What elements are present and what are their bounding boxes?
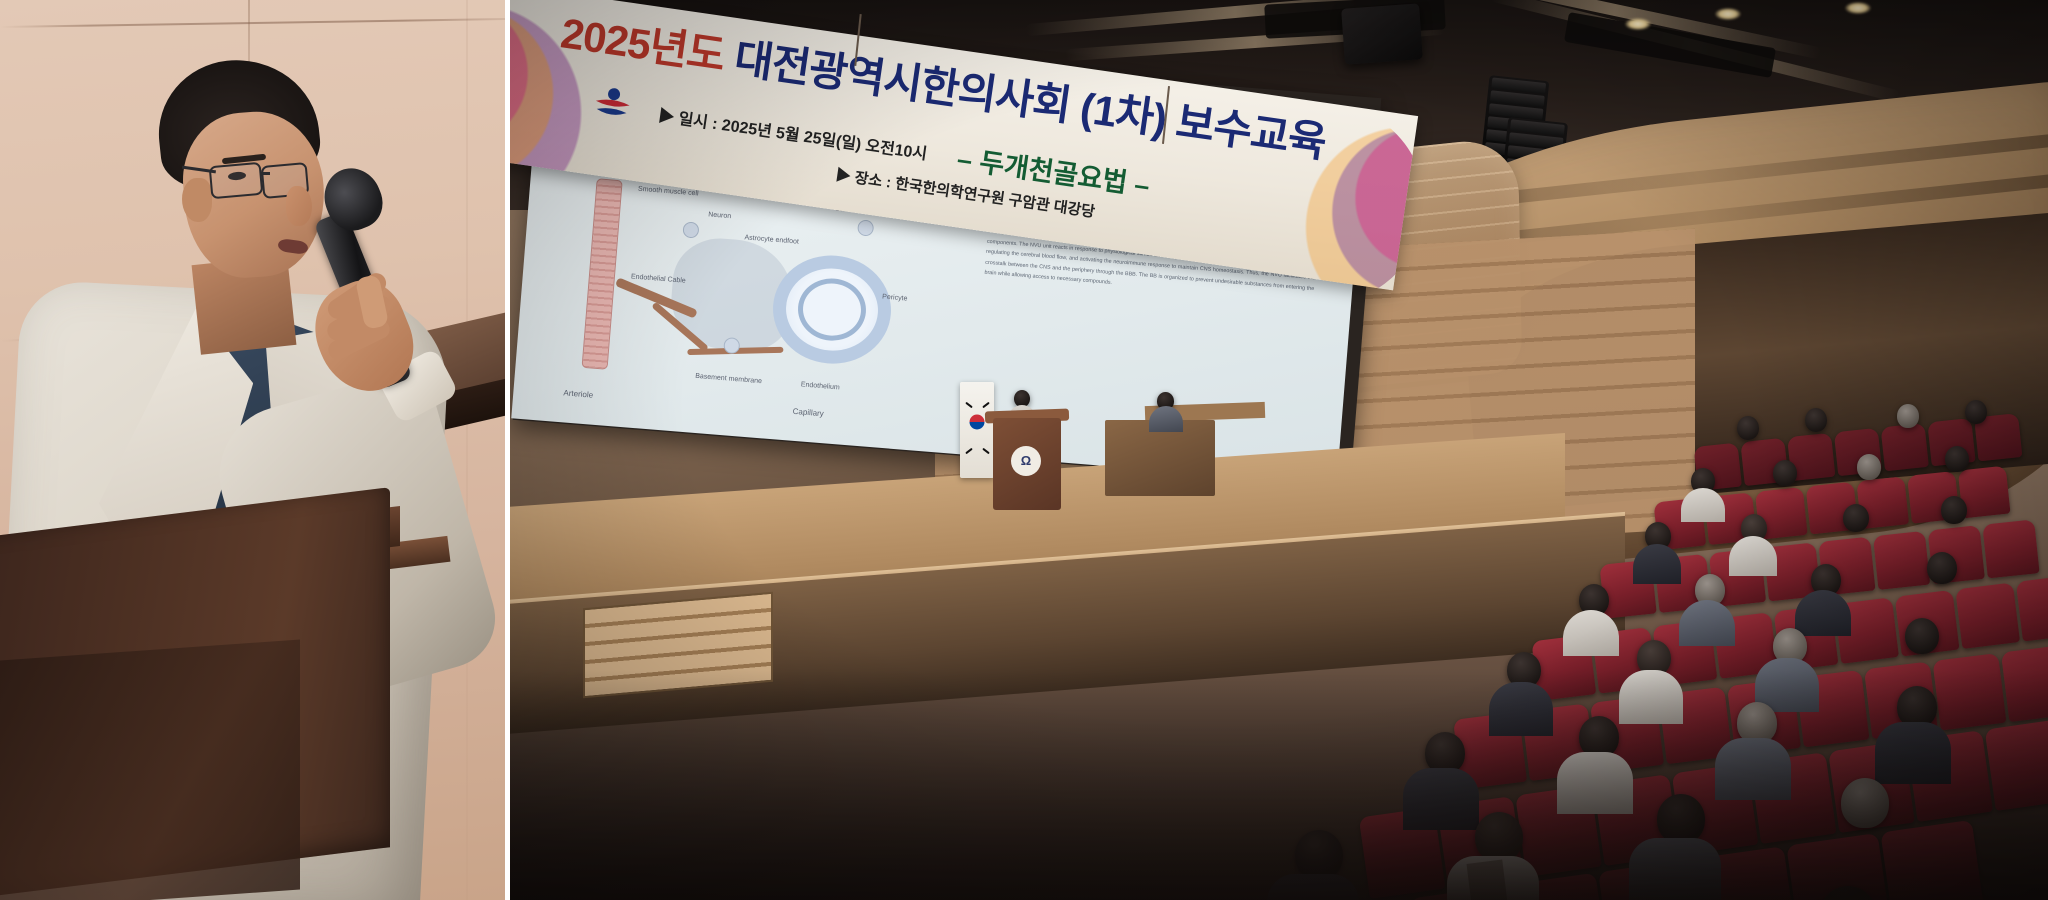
- person-head: [1965, 400, 1987, 424]
- downlight-icon: [1715, 8, 1741, 20]
- seat: [2001, 645, 2048, 723]
- speaker-ear: [182, 178, 212, 222]
- association-logo-icon: [589, 84, 635, 124]
- person-head: [1927, 552, 1957, 584]
- person-head: [1857, 454, 1881, 480]
- person-head: [1475, 812, 1523, 862]
- person-head: [1841, 778, 1889, 828]
- seat: [1880, 820, 1985, 900]
- person-head: [1657, 794, 1705, 844]
- left-photo-speaker: [0, 0, 505, 900]
- figure-caption-capillary: Capillary: [792, 407, 824, 418]
- figure-label: Endothelium: [801, 381, 840, 391]
- person-head: [1295, 830, 1343, 880]
- seat: [1982, 519, 2039, 578]
- seat: [1932, 653, 2006, 731]
- person-head: [1945, 446, 1969, 472]
- trigram-mark: [982, 402, 990, 409]
- person-body: [1267, 874, 1359, 900]
- neuron-cell: [682, 221, 699, 238]
- person-body: [1875, 722, 1951, 784]
- downlight-icon: [1625, 18, 1651, 30]
- person-body: [1729, 536, 1777, 576]
- seat: [1873, 531, 1930, 590]
- figure-caption-arteriole: Arteriole: [563, 388, 593, 399]
- person-body: [1403, 768, 1479, 830]
- capillary-cross-section: [769, 251, 895, 368]
- ceiling-speaker: [1341, 3, 1423, 64]
- person-body: [1681, 488, 1725, 522]
- figure-label: Neuron: [708, 211, 731, 220]
- person-body: [1795, 590, 1851, 636]
- person-head: [1905, 618, 1939, 654]
- person-head: [1941, 496, 1967, 524]
- eyeglasses-lens-left: [209, 162, 264, 199]
- person-body: [1619, 670, 1683, 724]
- downlight-icon: [1845, 2, 1871, 14]
- seat: [1985, 719, 2048, 811]
- person-head: [1737, 416, 1759, 440]
- person-body: [1629, 838, 1721, 900]
- panel-divider: [505, 0, 510, 900]
- person-body: [1557, 752, 1633, 814]
- arteriole-vessel: [582, 178, 623, 369]
- figure-label: Basement membrane: [695, 373, 762, 385]
- person-head: [1773, 460, 1797, 486]
- person-body: [1149, 406, 1183, 432]
- podium-front-face: [0, 640, 300, 900]
- banner-date-line: ▶ 일시 : 2025년 5월 25일(일) 오전10시: [657, 102, 929, 164]
- person-head: [1805, 408, 1827, 432]
- eyeglasses-bridge: [260, 172, 270, 175]
- trigram-mark: [965, 402, 973, 409]
- neuron-cell: [857, 219, 874, 236]
- person-head: [1843, 504, 1869, 532]
- person-body: [1715, 738, 1791, 800]
- taegeuk-circle-icon: [970, 415, 985, 430]
- person-body: [1489, 682, 1553, 736]
- speaker-nose: [286, 186, 312, 226]
- person-body: [1633, 544, 1681, 584]
- screenshot-root: 불면증 극복하기- 낮에는 뇌혈관장벽(BBB)이 타이트하다!! 잠자는 것은…: [0, 0, 2048, 900]
- seat: [1955, 582, 2020, 649]
- seat: [1881, 423, 1929, 471]
- right-photo-auditorium: 불면증 극복하기- 낮에는 뇌혈관장벽(BBB)이 타이트하다!! 잠자는 것은…: [505, 0, 2048, 900]
- seat: [2016, 575, 2048, 642]
- audience-seating: [505, 430, 2048, 900]
- person-head: [1897, 404, 1919, 428]
- person-body: [1679, 600, 1735, 646]
